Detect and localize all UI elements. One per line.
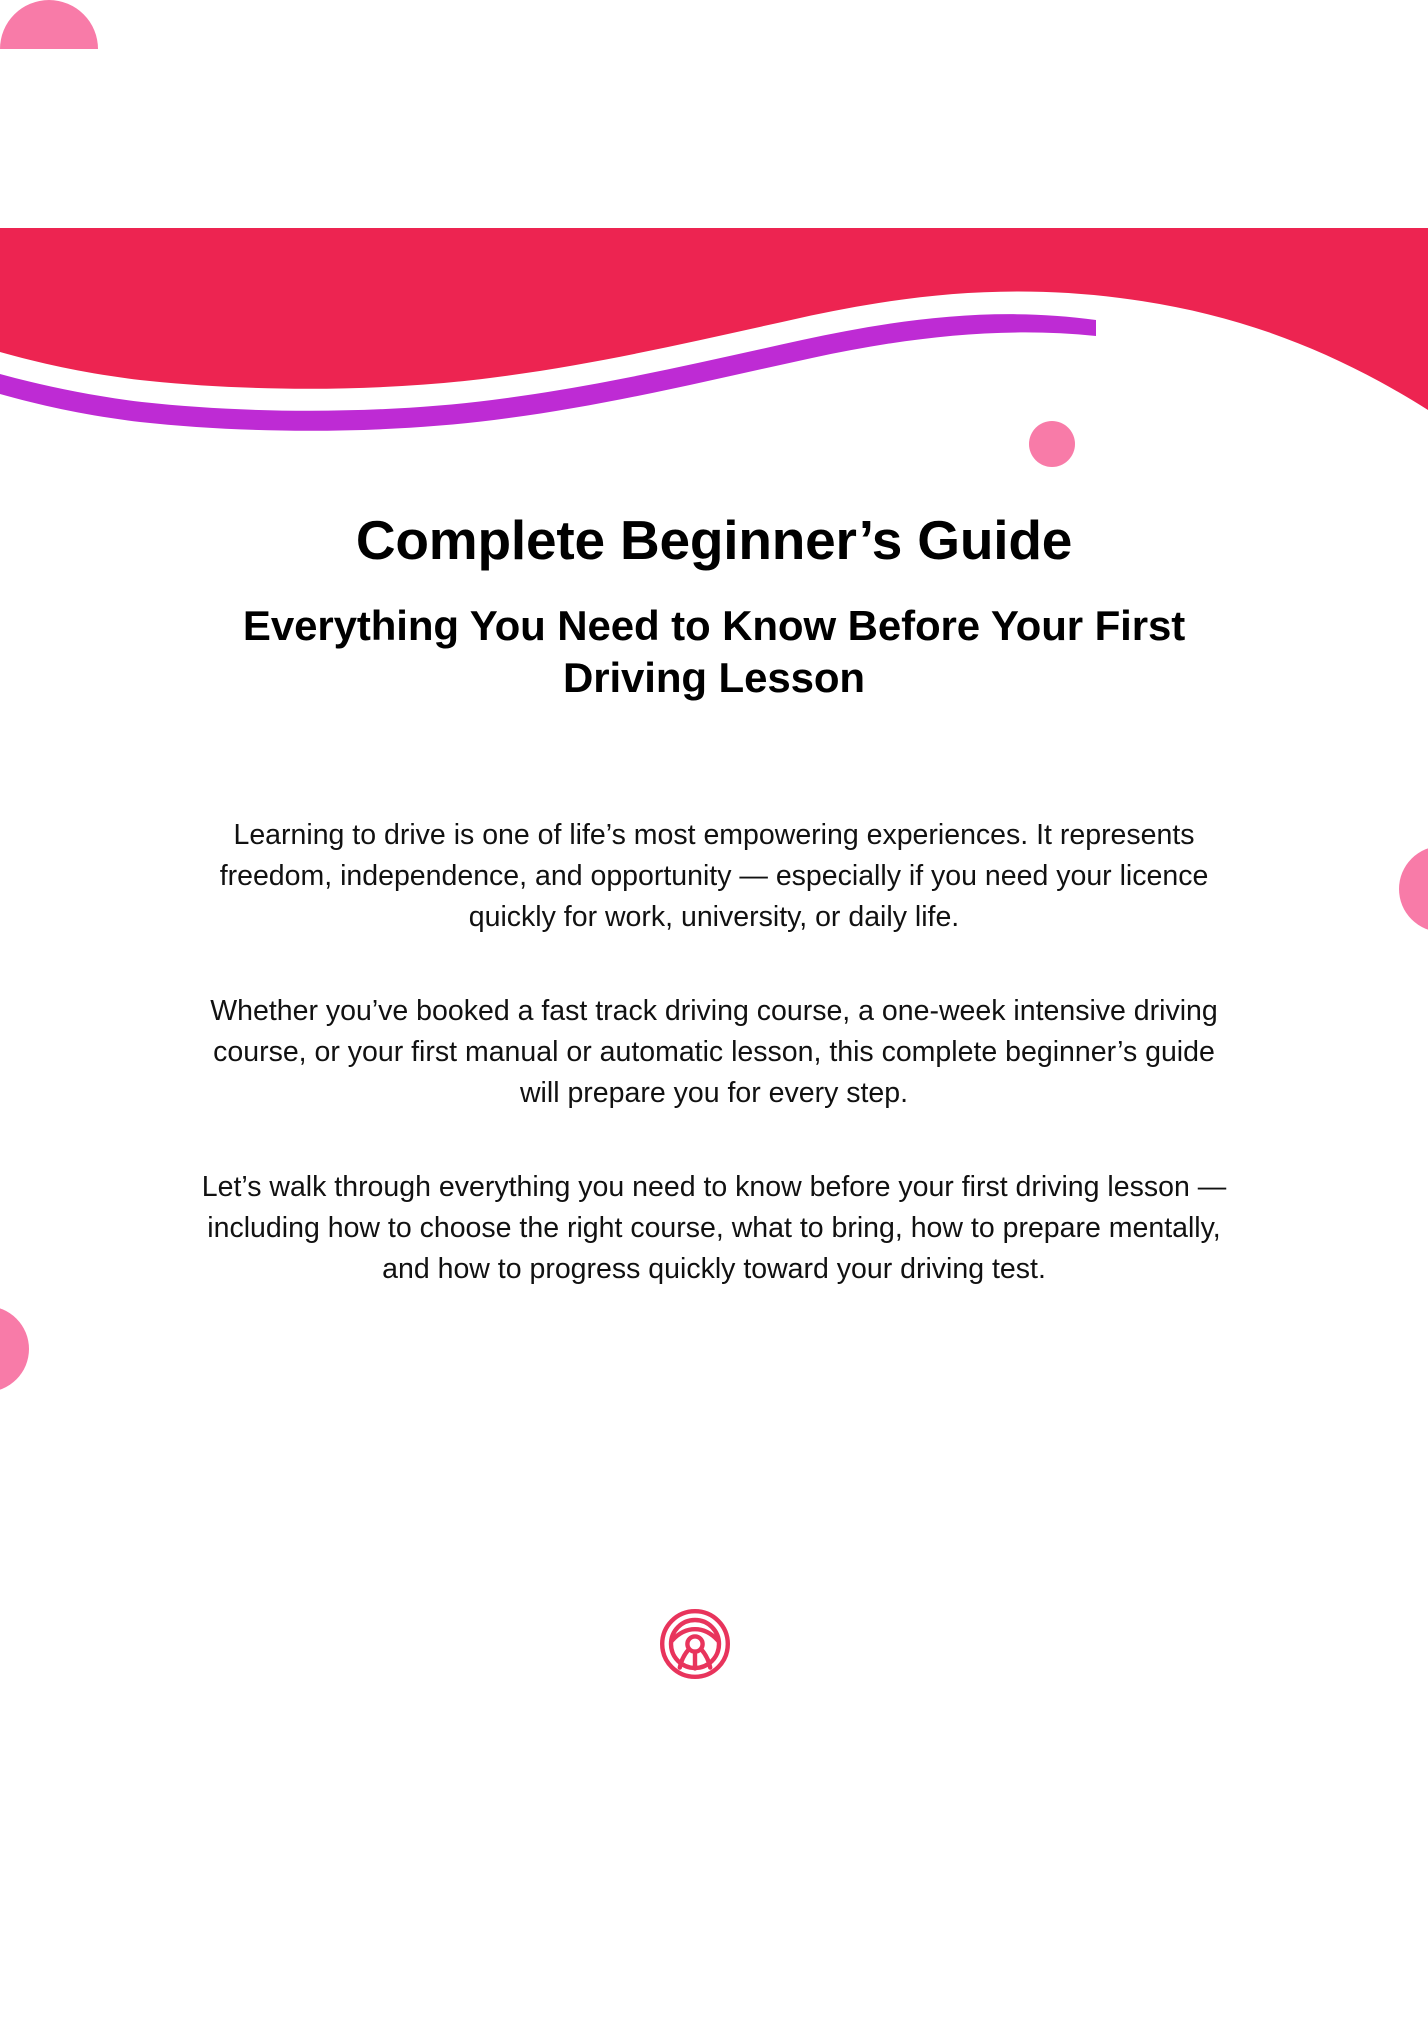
page-title: Complete Beginner’s Guide	[0, 0, 1428, 570]
body-paragraph: Whether you’ve booked a fast track drivi…	[197, 991, 1232, 1115]
page-subtitle: Everything You Need to Know Before Your …	[209, 570, 1219, 705]
body-paragraph: Learning to drive is one of life’s most …	[197, 815, 1232, 939]
decorative-pink-circle-left-edge	[0, 1306, 29, 1392]
document-content: Complete Beginner’s Guide Everything You…	[0, 0, 1428, 1291]
steering-wheel-icon	[655, 1604, 735, 1684]
body-paragraph: Let’s walk through everything you need t…	[197, 1167, 1232, 1291]
intro-body: Learning to drive is one of life’s most …	[197, 705, 1232, 1291]
